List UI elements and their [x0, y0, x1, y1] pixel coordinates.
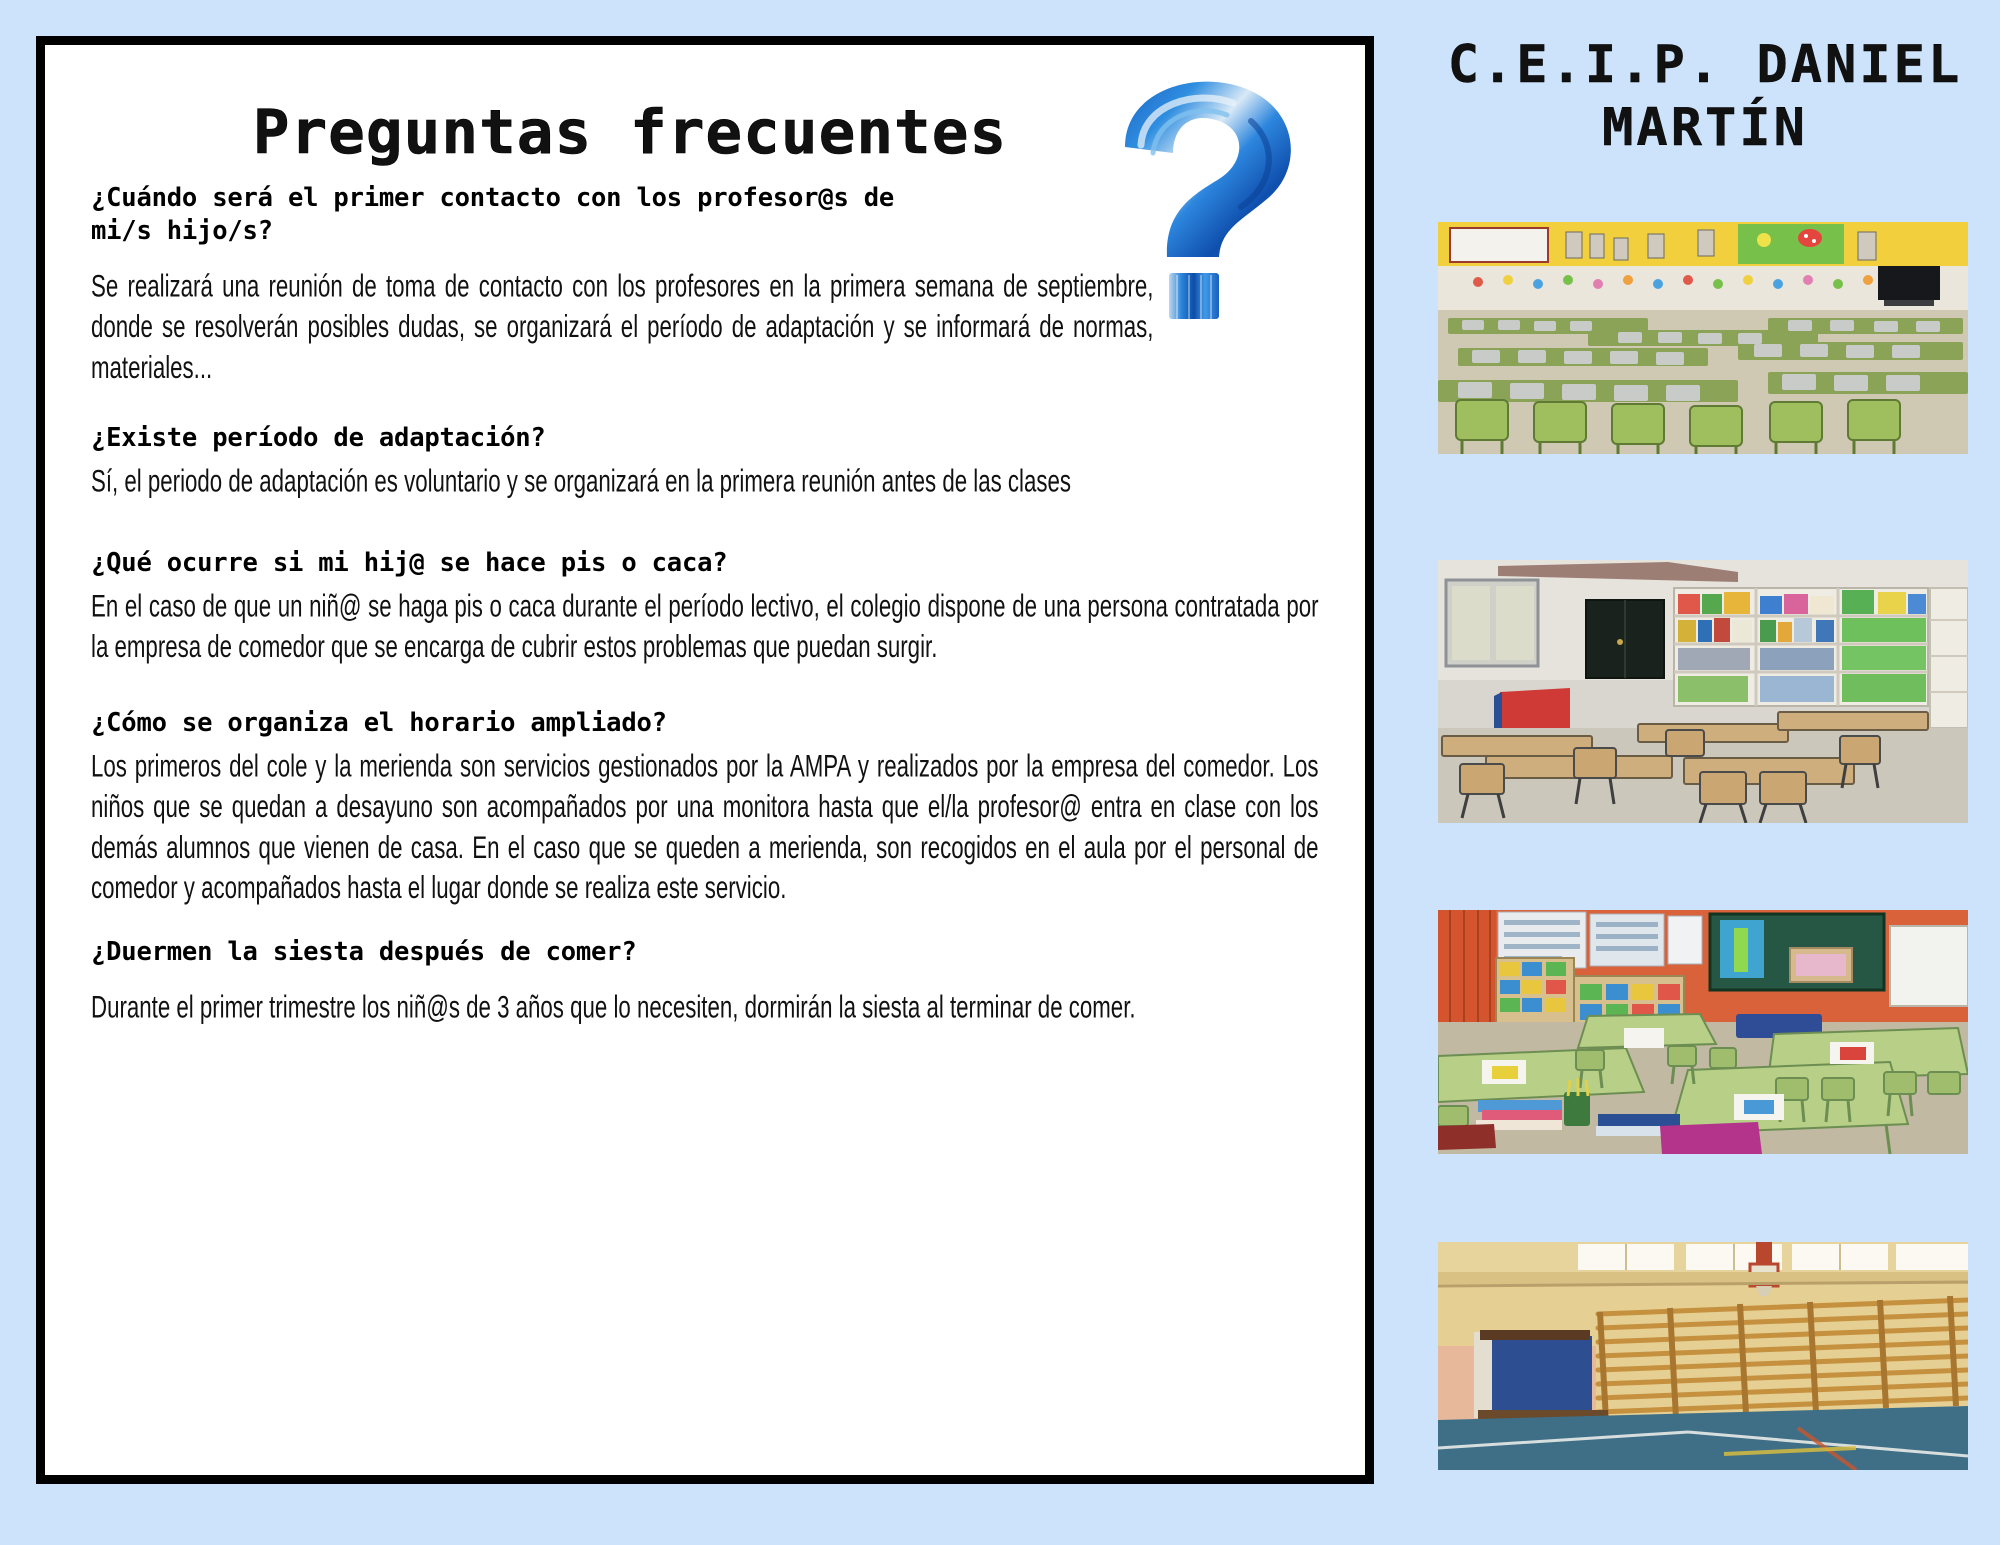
school-sidebar: C.E.I.P. DANIEL MARTÍN: [1410, 0, 2000, 1545]
faq-item: ¿Qué ocurre si mi hij@ se hace pis o cac…: [91, 547, 1319, 655]
school-name-title: C.E.I.P. DANIEL MARTÍN: [1410, 0, 2000, 161]
photo-library-classroom: [1438, 560, 1968, 823]
photo-infant-classroom: [1438, 910, 1968, 1154]
faq-panel: Preguntas frecuentes ¿Cuándo será el pri…: [36, 36, 1374, 1484]
faq-question: ¿Cómo se organiza el horario ampliado?: [91, 707, 1319, 740]
page-title: Preguntas frecuentes: [91, 97, 1319, 168]
photo-gymnasium: [1438, 1242, 1968, 1470]
photo-dining-hall: [1438, 222, 1968, 454]
faq-answer: Durante el primer trimestre los niñ@s de…: [91, 987, 1319, 1028]
faq-answer: Se realizará una reunión de toma de cont…: [91, 266, 1153, 388]
faq-question: ¿Qué ocurre si mi hij@ se hace pis o cac…: [91, 547, 1319, 580]
faq-answer: Los primeros del cole y la merienda son …: [91, 746, 1319, 909]
faq-question: ¿Existe período de adaptación?: [91, 422, 1319, 455]
faq-question: ¿Cuándo será el primer contacto con los …: [91, 182, 1319, 248]
faq-answer: Sí, el periodo de adaptación es voluntar…: [91, 461, 1319, 502]
faq-item: ¿Cuándo será el primer contacto con los …: [91, 182, 1319, 370]
faq-answer: En el caso de que un niñ@ se haga pis o …: [91, 586, 1319, 667]
faq-item: ¿Existe período de adaptación? Sí, el pe…: [91, 422, 1319, 496]
faq-panel-inner: Preguntas frecuentes ¿Cuándo será el pri…: [45, 45, 1365, 1475]
faq-item: ¿Duermen la siesta después de comer? Dur…: [91, 936, 1319, 1022]
faq-item: ¿Cómo se organiza el horario ampliado? L…: [91, 707, 1319, 884]
faq-question: ¿Duermen la siesta después de comer?: [91, 936, 1319, 969]
